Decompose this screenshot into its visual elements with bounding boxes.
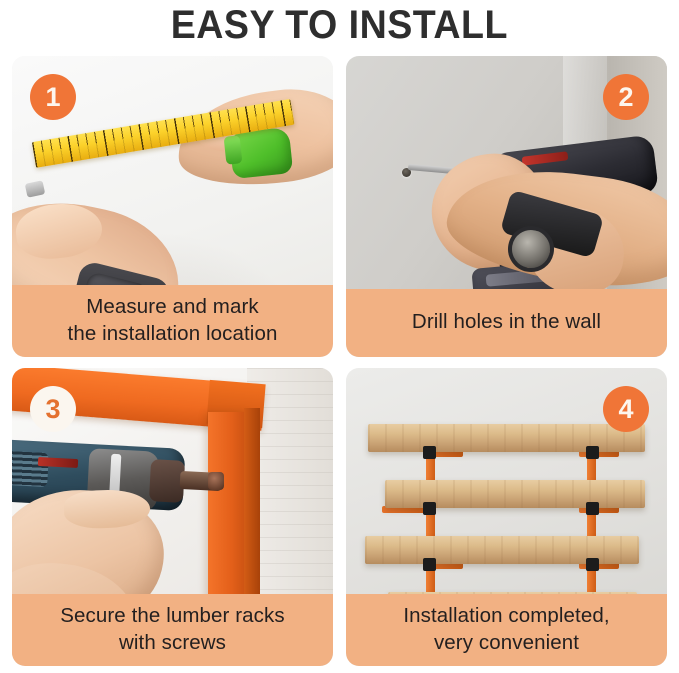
step-card-2[interactable]: 2 Drill holes in the wall [346, 56, 667, 357]
caption-line-1: Installation completed, [403, 604, 609, 627]
step-badge-1: 1 [30, 74, 76, 120]
step-card-1[interactable]: 1 Measure and mark the installation loca… [12, 56, 333, 357]
step-card-3[interactable]: 3 Secure the lumber racks with screws [12, 368, 333, 666]
step-caption-1: Measure and mark the installation locati… [12, 285, 333, 357]
step-card-4[interactable]: 4 Installation completed, very convenien… [346, 368, 667, 666]
caption-line-1: Drill holes in the wall [412, 308, 601, 335]
step-caption-3: Secure the lumber racks with screws [12, 594, 333, 666]
tape-measure-lip [224, 135, 243, 165]
caption-line-2: the installation location [68, 322, 278, 345]
lumber-board [368, 424, 645, 452]
step-badge-4: 4 [603, 386, 649, 432]
tape-measure-hook [25, 180, 46, 197]
rack-end-cap [423, 558, 436, 571]
rack-end-cap [423, 502, 436, 515]
step-badge-3: 3 [30, 386, 76, 432]
step-caption-1-text: Measure and mark the installation locati… [68, 293, 278, 347]
step-caption-4-text: Installation completed, very convenient [403, 602, 609, 656]
caption-line-2: very convenient [434, 631, 579, 654]
step-caption-3-text: Secure the lumber racks with screws [60, 602, 284, 656]
rack-end-cap [423, 446, 436, 459]
steps-grid: 1 Measure and mark the installation loca… [12, 56, 667, 666]
caption-line-2: with screws [119, 631, 226, 654]
page-header: EASY TO INSTALL [0, 0, 679, 50]
step-caption-4: Installation completed, very convenient [346, 594, 667, 666]
caption-line-1: Measure and mark [86, 295, 259, 318]
rack-end-cap [586, 502, 599, 515]
caption-line-1: Secure the lumber racks [60, 604, 284, 627]
rack-end-cap [586, 558, 599, 571]
step-badge-2: 2 [603, 74, 649, 120]
step-caption-2: Drill holes in the wall [346, 289, 667, 357]
page-title: EASY TO INSTALL [171, 5, 508, 45]
screw-head [208, 472, 224, 490]
bracket-edge [244, 408, 260, 614]
rack-end-cap [586, 446, 599, 459]
wood-grain [368, 424, 645, 452]
